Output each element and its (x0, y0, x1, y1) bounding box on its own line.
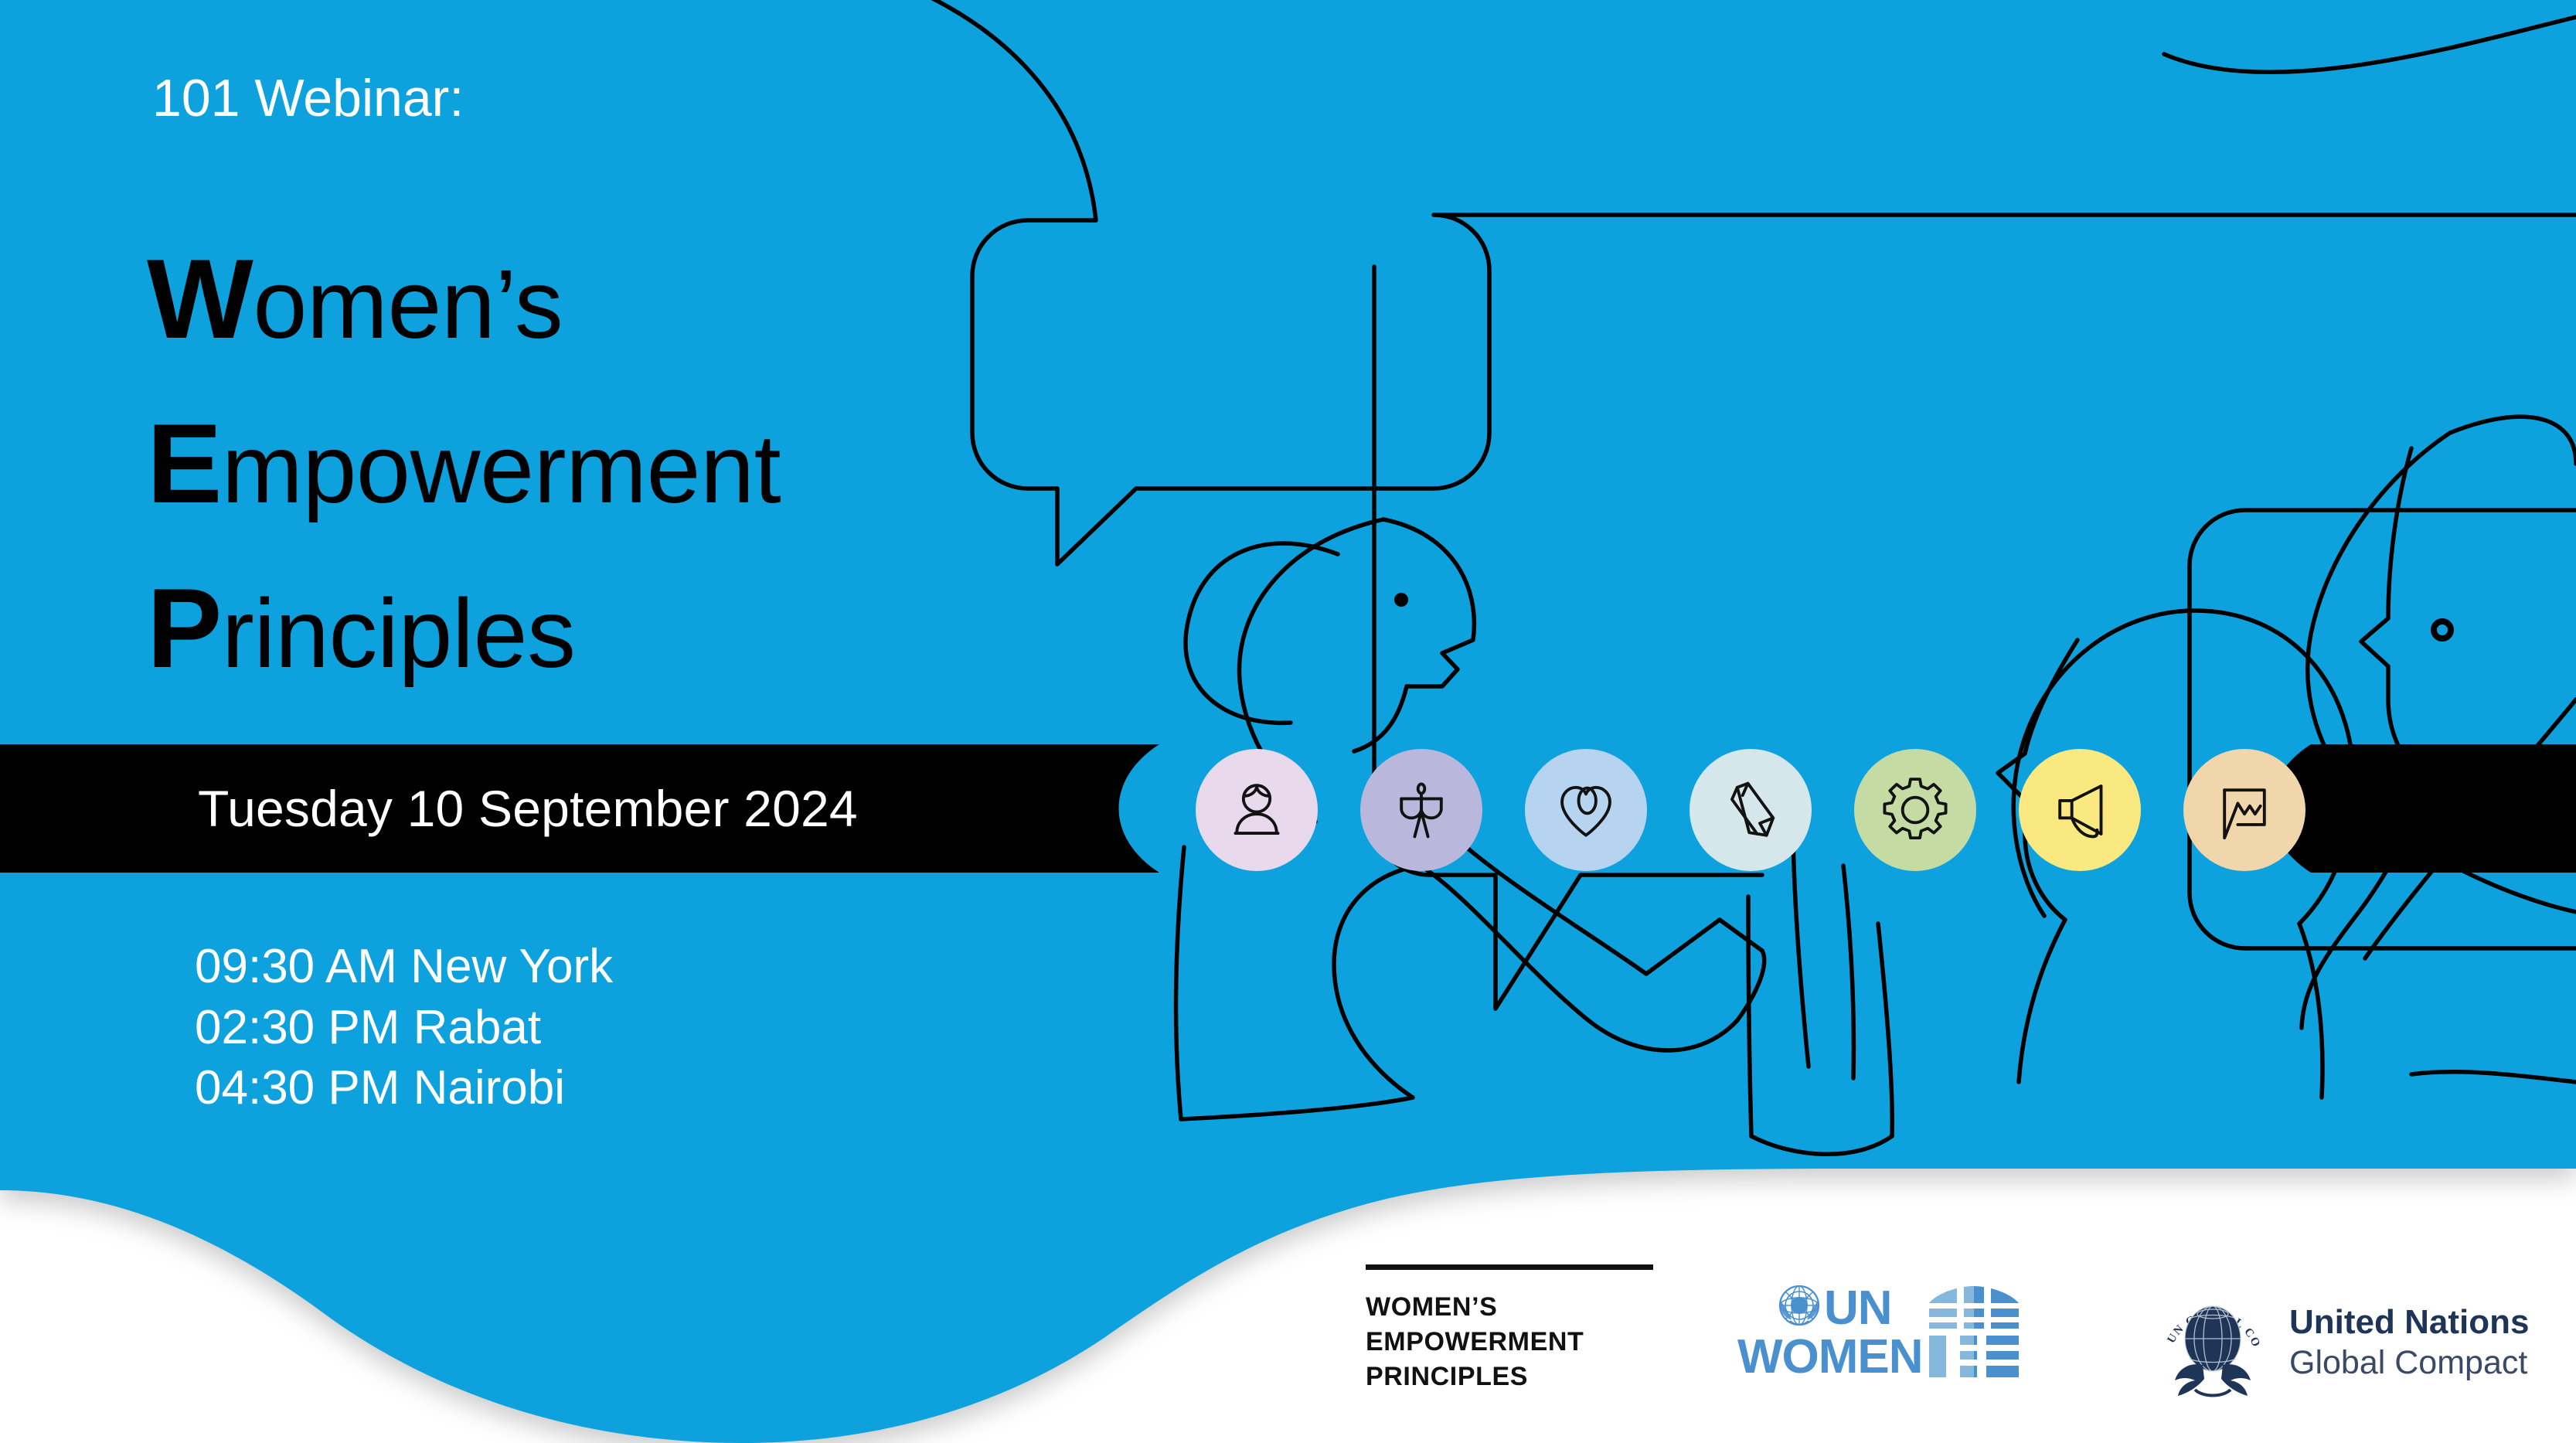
un-women-line-1: UN (1824, 1281, 1892, 1335)
icon-circle-education[interactable] (1690, 749, 1812, 871)
leadership-person-icon (1223, 777, 1290, 843)
chart-report-icon (2211, 777, 2278, 843)
date-label: Tuesday 10 September 2024 (0, 744, 1097, 873)
title-line-3: Principles (147, 546, 781, 710)
megaphone-advocacy-icon (2047, 777, 2113, 843)
title-cap-e: E (147, 400, 222, 526)
page-title: Women’s Empowerment Principles (147, 216, 781, 710)
time-nairobi: 04:30 PM Nairobi (195, 1058, 613, 1119)
webinar-banner: Tuesday 10 September 2024 101 Webinar: W… (0, 0, 2576, 1443)
icon-circle-leadership[interactable] (1196, 749, 1318, 871)
un-women-logo: UN WOMEN (1737, 1281, 2047, 1382)
scales-balance-icon (1388, 777, 1455, 843)
title-line-2: Empowerment (147, 381, 781, 546)
eyebrow-label: 101 Webinar: (152, 68, 464, 128)
date-bar-right-stub (2265, 744, 2576, 873)
title-line-1: Women’s (147, 216, 781, 381)
title-cap-p: P (147, 565, 222, 691)
un-women-line-2: WOMEN (1737, 1330, 1923, 1382)
wep-logo: WOMEN’S EMPOWERMENT PRINCIPLES (1366, 1264, 1653, 1395)
title-cap-w: W (147, 236, 253, 362)
time-rabat: 02:30 PM Rabat (195, 998, 613, 1059)
un-global-compact-logo: UN GLOBAL COMPACT Un (2155, 1285, 2529, 1400)
ungc-emblem-icon: UN GLOBAL COMPACT (2155, 1285, 2271, 1400)
un-women-mark-icon (1929, 1286, 2019, 1377)
date-bar: Tuesday 10 September 2024 (0, 744, 1206, 873)
heart-health-icon (1553, 777, 1619, 843)
time-new-york: 09:30 AM New York (195, 937, 613, 998)
ungc-line-1: United Nations (2289, 1302, 2529, 1343)
icon-circle-advocacy[interactable] (2019, 749, 2141, 871)
title-rest-1: omen’s (253, 250, 563, 359)
ungc-line-2: Global Compact (2289, 1343, 2529, 1383)
icon-circle-enterprise[interactable] (1854, 749, 1976, 871)
wep-line-2: EMPOWERMENT (1366, 1325, 1653, 1360)
pencil-education-icon (1717, 777, 1784, 843)
wep-rule-divider (1366, 1264, 1653, 1270)
wep-line-3: PRINCIPLES (1366, 1360, 1653, 1394)
title-rest-3: rinciples (222, 579, 576, 688)
title-rest-2: mpowerment (222, 414, 781, 523)
un-emblem-icon (1780, 1286, 1819, 1325)
timezone-list: 09:30 AM New York 02:30 PM Rabat 04:30 P… (195, 937, 613, 1119)
wep-line-1: WOMEN’S (1366, 1290, 1653, 1325)
principles-icon-row (1196, 749, 2305, 871)
date-bar-right-shape (2265, 744, 2576, 873)
icon-circle-equal-opportunity[interactable] (1360, 749, 1482, 871)
footer-logos: WOMEN’S EMPOWERMENT PRINCIPLES (0, 1237, 2576, 1443)
icon-circle-reporting[interactable] (2183, 749, 2305, 871)
gear-enterprise-icon (1882, 777, 1948, 843)
icon-circle-health[interactable] (1525, 749, 1647, 871)
